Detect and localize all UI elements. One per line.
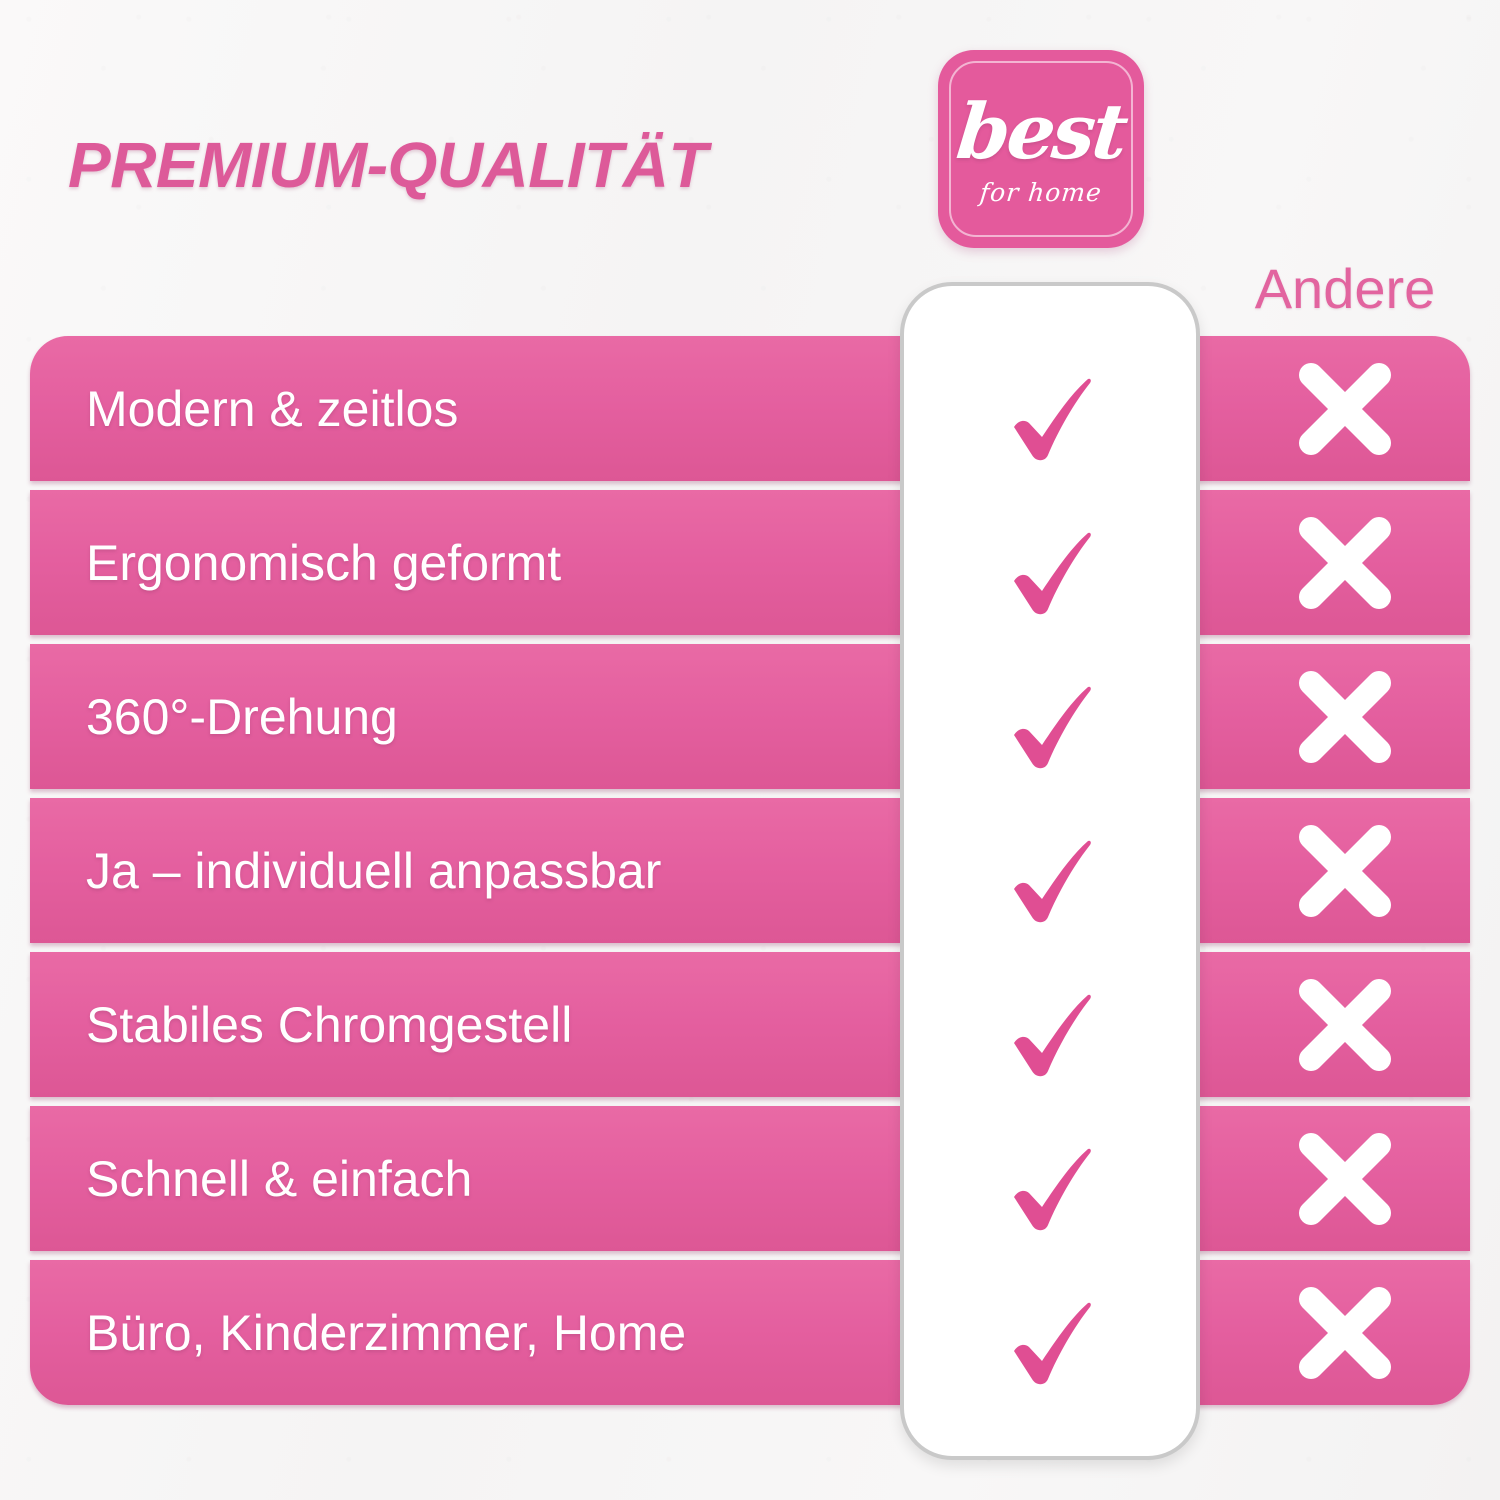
feature-label: 360°-Drehung: [86, 688, 398, 746]
other-cell: [1200, 644, 1490, 789]
best-cell: [904, 802, 1196, 956]
check-icon: [994, 669, 1106, 781]
table-row: 360°-Drehung: [30, 644, 1470, 789]
check-icon: [994, 361, 1106, 473]
cross-icon: [1293, 665, 1397, 769]
other-cell: [1200, 952, 1490, 1097]
table-row: Ergonomisch geformt: [30, 490, 1470, 635]
table-row: Schnell & einfach: [30, 1106, 1470, 1251]
table-row: Modern & zeitlos: [30, 336, 1470, 481]
table-row: Büro, Kinderzimmer, Home: [30, 1260, 1470, 1405]
cross-icon: [1293, 511, 1397, 615]
feature-label: Büro, Kinderzimmer, Home: [86, 1304, 686, 1362]
comparison-table: Modern & zeitlosErgonomisch geformt360°-…: [30, 336, 1470, 1405]
feature-label: Modern & zeitlos: [86, 380, 458, 438]
best-cell: [904, 1264, 1196, 1418]
cross-icon: [1293, 1281, 1397, 1385]
best-cell: [904, 1110, 1196, 1264]
check-icon: [994, 977, 1106, 1089]
check-icon: [994, 1131, 1106, 1243]
check-icon: [994, 1285, 1106, 1397]
brand-tagline: for home: [936, 178, 1145, 207]
other-column-header: Andere: [1200, 256, 1490, 321]
other-cell: [1200, 1260, 1490, 1405]
best-cell: [904, 494, 1196, 648]
other-cell: [1200, 1106, 1490, 1251]
feature-label: Schnell & einfach: [86, 1150, 472, 1208]
best-cell: [904, 340, 1196, 494]
feature-label: Ergonomisch geformt: [86, 534, 561, 592]
other-cell: [1200, 798, 1490, 943]
best-column-cells: [904, 340, 1196, 1410]
check-icon: [994, 823, 1106, 935]
cross-icon: [1293, 357, 1397, 461]
best-cell: [904, 956, 1196, 1110]
table-row: Stabiles Chromgestell: [30, 952, 1470, 1097]
feature-label: Stabiles Chromgestell: [86, 996, 572, 1054]
best-column-highlight: [900, 282, 1200, 1460]
brand-name: best: [934, 94, 1148, 170]
table-row: Ja – individuell anpassbar: [30, 798, 1470, 943]
other-cell: [1200, 336, 1490, 481]
brand-logo-badge: best for home: [938, 50, 1144, 248]
check-icon: [994, 515, 1106, 627]
other-cell: [1200, 490, 1490, 635]
cross-icon: [1293, 1127, 1397, 1231]
cross-icon: [1293, 973, 1397, 1077]
page-title: PREMIUM-QUALITÄT: [68, 128, 707, 202]
feature-label: Ja – individuell anpassbar: [86, 842, 661, 900]
best-cell: [904, 648, 1196, 802]
cross-icon: [1293, 819, 1397, 923]
